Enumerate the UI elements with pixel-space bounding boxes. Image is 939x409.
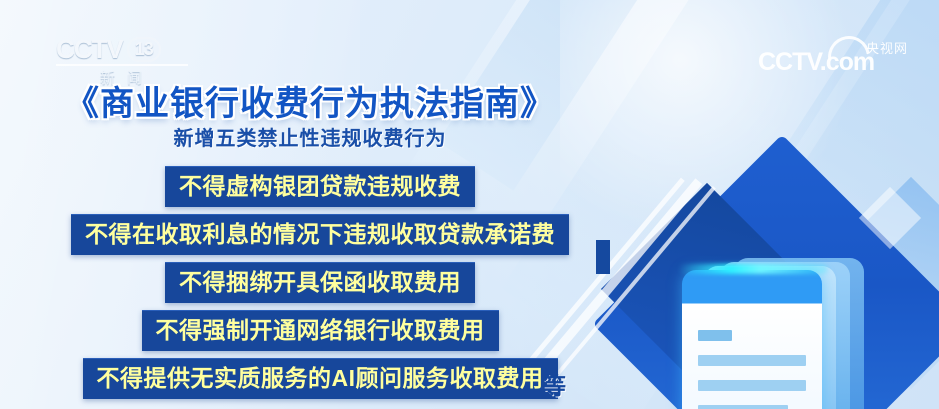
document-line-1 <box>698 330 732 341</box>
page-title: 《商业银行收费行为执法指南》 <box>0 84 620 124</box>
banner-item-1: 不得虚构银团贷款违规收费 <box>165 166 475 207</box>
banner-item-4: 不得强制开通网络银行收取费用 <box>142 310 499 351</box>
banner-item-2: 不得在收取利息的情况下违规收取贷款承诺费 <box>71 214 569 255</box>
headline-block: 《商业银行收费行为执法指南》 新增五类禁止性违规收费行为 <box>0 84 620 152</box>
banner-item-1-label: 不得虚构银团贷款违规收费 <box>179 171 461 201</box>
banner-item-5: 不得提供无实质服务的AI顾问服务收取费用 <box>83 358 558 399</box>
document-line-2 <box>698 355 806 366</box>
page-subtitle: 新增五类禁止性违规收费行为 <box>0 126 620 152</box>
prohibited-items-list: 不得虚构银团贷款违规收费 不得在收取利息的情况下违规收取贷款承诺费 不得捆绑开具… <box>0 166 640 406</box>
document-line-4 <box>698 405 788 409</box>
banner-item-4-label: 不得强制开通网络银行收取费用 <box>156 315 485 345</box>
broadcast-graphic: CCTV 13 新闻 央视网 CCTV.com 《商业银行收费行为执法指南》 新… <box>0 0 939 409</box>
cctv-com-watermark: 央视网 CCTV.com <box>758 40 908 80</box>
phone-top-glow <box>678 264 828 274</box>
list-item: 不得虚构银团贷款违规收费 <box>0 166 640 207</box>
channel-number: 13 <box>127 37 161 62</box>
document-line-3 <box>698 380 806 391</box>
list-item: 不得捆绑开具保函收取费用 <box>0 262 640 303</box>
cctv-wordmark: CCTV <box>56 36 123 62</box>
trailing-note: 等 <box>543 372 566 400</box>
logo-divider <box>56 64 188 66</box>
list-item: 不得强制开通网络银行收取费用 <box>0 310 640 351</box>
phone-screen-card <box>682 270 822 409</box>
banner-item-3: 不得捆绑开具保函收取费用 <box>165 262 475 303</box>
banner-item-3-label: 不得捆绑开具保函收取费用 <box>179 267 461 297</box>
list-item: 不得在收取利息的情况下违规收取贷款承诺费 <box>0 214 640 255</box>
cctv13-channel-logo: CCTV 13 新闻 <box>56 36 188 84</box>
phone-document-illustration <box>676 252 886 409</box>
cctv13-logo-row: CCTV 13 <box>56 36 188 62</box>
banner-item-2-label: 不得在收取利息的情况下违规收取贷款承诺费 <box>85 219 555 249</box>
banner-item-5-label: 不得提供无实质服务的AI顾问服务收取费用 <box>97 363 544 393</box>
watermark-english-label: CCTV.com <box>758 50 874 75</box>
